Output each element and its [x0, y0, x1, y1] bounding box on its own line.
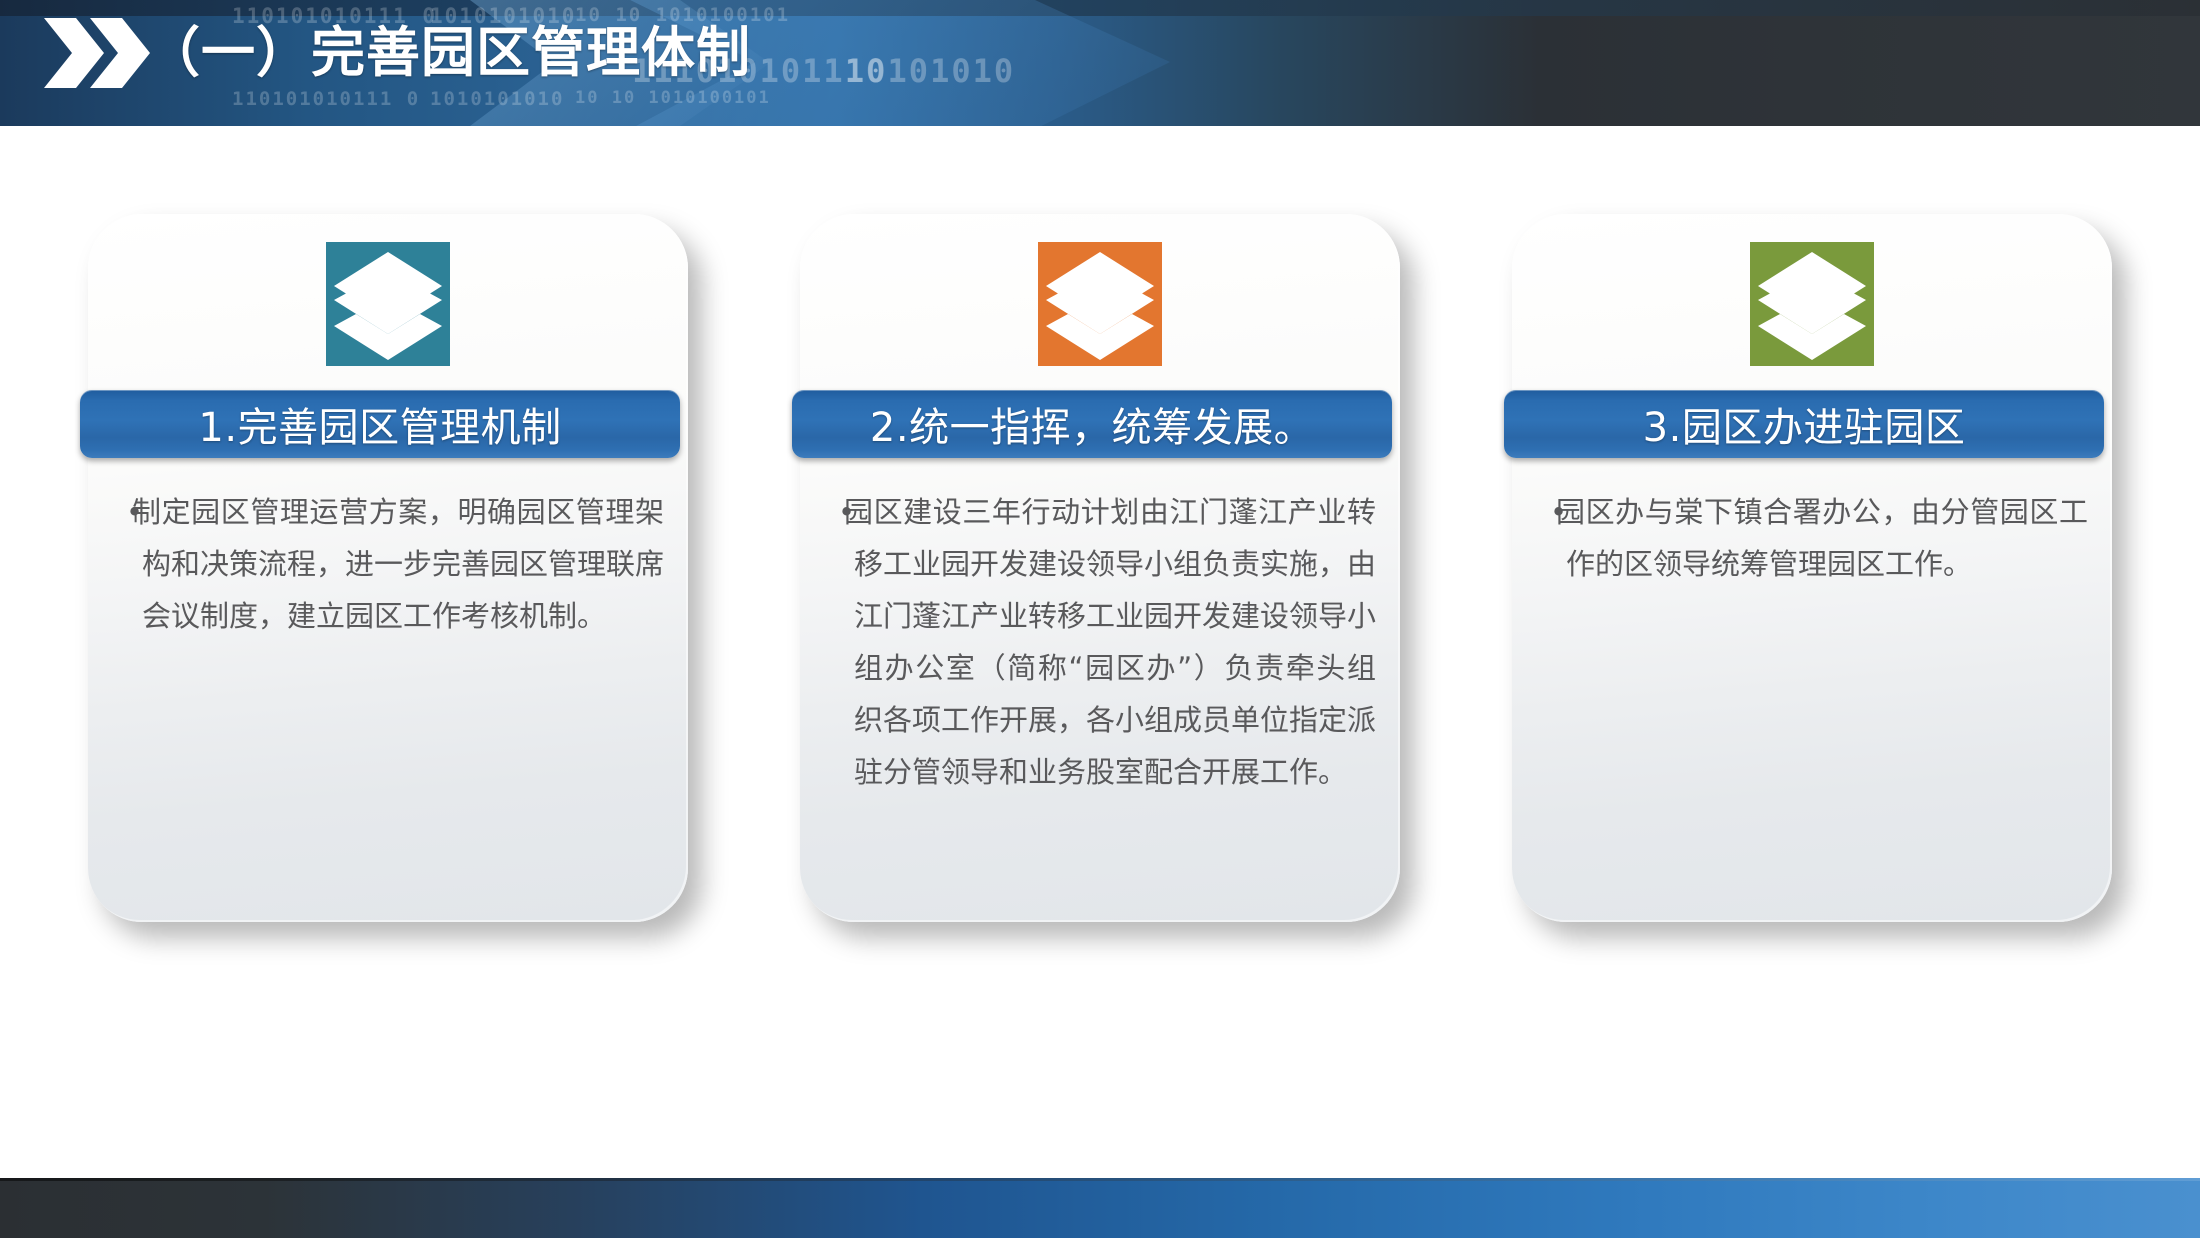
- slide-footer: [0, 1178, 2200, 1238]
- card-1[interactable]: 1.完善园区管理机制 •制定园区管理运营方案，明确园区管理架构和决策流程，进一步…: [88, 214, 688, 922]
- binary-decor-text: 110101010111 0: [232, 88, 420, 110]
- card-title-bar[interactable]: 3.园区办进驻园区: [1504, 390, 2104, 458]
- footer-divider: [0, 1178, 2200, 1181]
- card-body-paragraph: 园区办与棠下镇合署办公，由分管园区工作的区领导统筹管理园区工作。: [1556, 495, 2088, 581]
- card-body: •园区办与棠下镇合署办公，由分管园区工作的区领导统筹管理园区工作。: [1536, 486, 2088, 590]
- binary-decor-text: 10 10 1010100101: [575, 88, 771, 108]
- card-2[interactable]: 2.统一指挥，统筹发展。 •园区建设三年行动计划由江门蓬江产业转移工业园开发建设…: [800, 214, 1400, 922]
- card-3[interactable]: 3.园区办进驻园区 •园区办与棠下镇合署办公，由分管园区工作的区领导统筹管理园区…: [1512, 214, 2112, 922]
- layers-stack-icon: [1750, 242, 1874, 366]
- card-body-text: •园区建设三年行动计划由江门蓬江产业转移工业园开发建设领导小组负责实施，由江门蓬…: [824, 486, 1376, 798]
- card-body: •制定园区管理运营方案，明确园区管理架构和决策流程，进一步完善园区管理联席会议制…: [112, 486, 664, 642]
- card-title-text: 3.园区办进驻园区: [1643, 395, 1966, 453]
- binary-decor-text: 10101010: [845, 52, 1015, 90]
- card-body: •园区建设三年行动计划由江门蓬江产业转移工业园开发建设领导小组负责实施，由江门蓬…: [824, 486, 1376, 798]
- layers-stack-icon: [326, 242, 450, 366]
- page-title: （一）完善园区管理体制: [146, 18, 751, 88]
- card-body-paragraph: 园区建设三年行动计划由江门蓬江产业转移工业园开发建设领导小组负责实施，由江门蓬江…: [844, 495, 1376, 789]
- card-body-text: •制定园区管理运营方案，明确园区管理架构和决策流程，进一步完善园区管理联席会议制…: [112, 486, 664, 642]
- binary-decor-text: 1010101010: [430, 88, 564, 110]
- layers-stack-icon: [1038, 242, 1162, 366]
- card-body-paragraph: 制定园区管理运营方案，明确园区管理架构和决策流程，进一步完善园区管理联席会议制度…: [132, 495, 664, 633]
- slide-root: 110101010111 0 1010101010 10 10 10101001…: [0, 0, 2200, 1238]
- card-body-text: •园区办与棠下镇合署办公，由分管园区工作的区领导统筹管理园区工作。: [1536, 486, 2088, 590]
- card-title-text: 2.统一指挥，统筹发展。: [870, 395, 1314, 453]
- card-title-bar[interactable]: 1.完善园区管理机制: [80, 390, 680, 458]
- double-chevron-right-icon: [42, 16, 154, 90]
- cards-container: 1.完善园区管理机制 •制定园区管理运营方案，明确园区管理架构和决策流程，进一步…: [0, 126, 2200, 1156]
- card-title-text: 1.完善园区管理机制: [198, 395, 561, 453]
- card-title-bar[interactable]: 2.统一指挥，统筹发展。: [792, 390, 1392, 458]
- slide-header: 110101010111 0 1010101010 10 10 10101001…: [0, 0, 2200, 126]
